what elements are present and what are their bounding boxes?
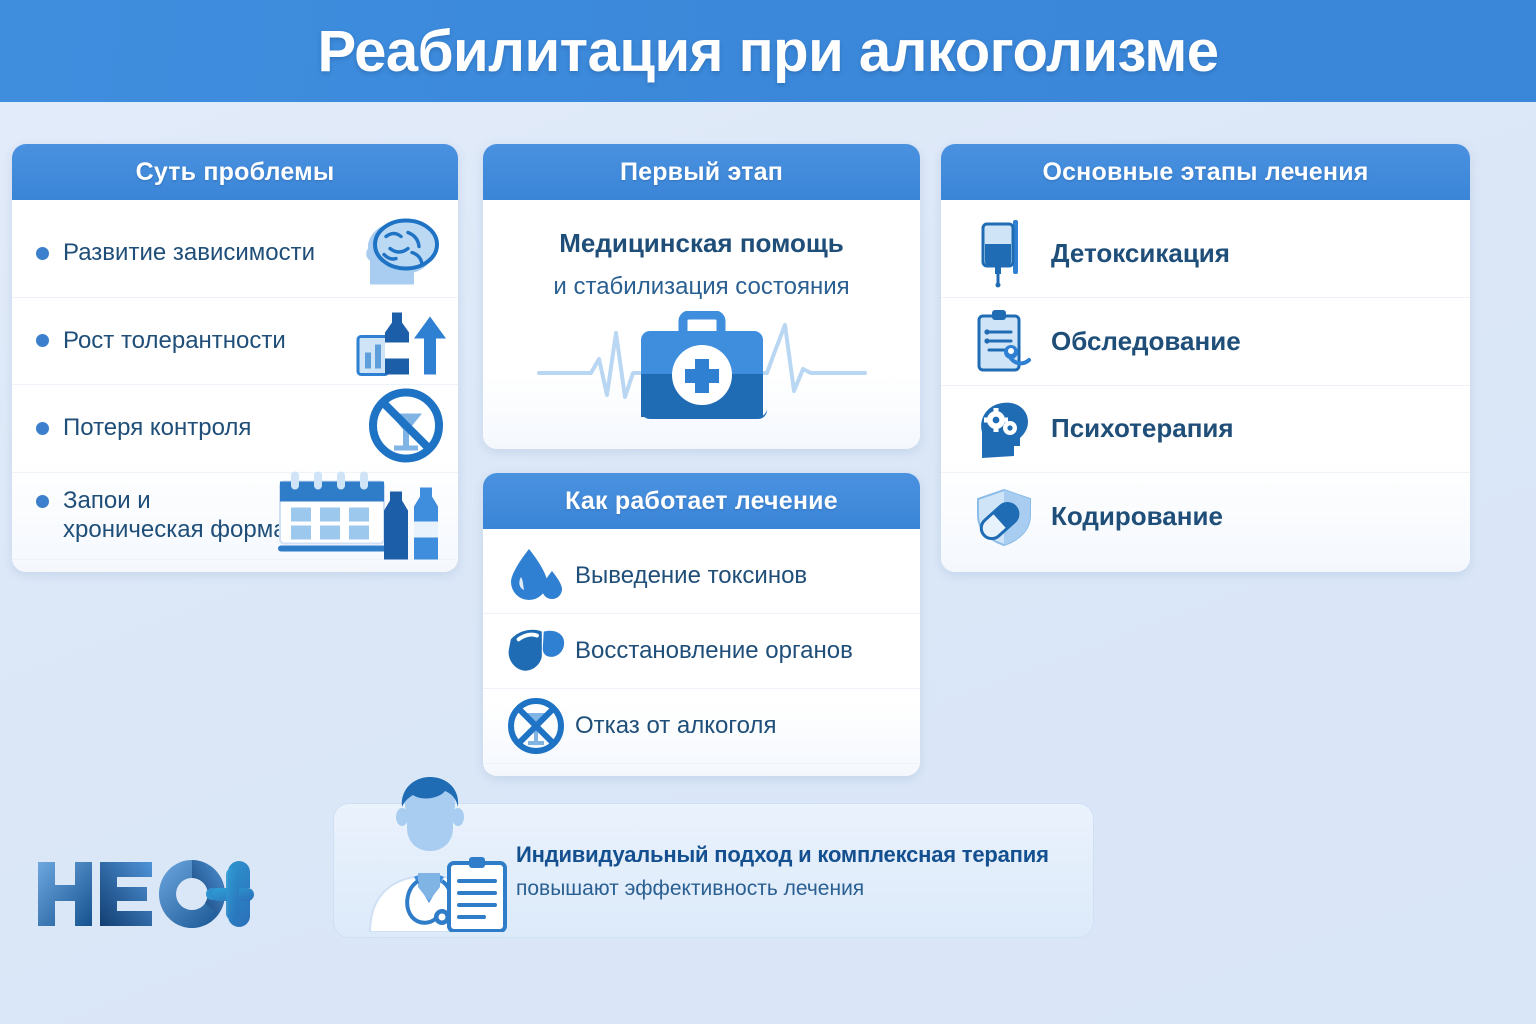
card-first-stage-title: Первый этап xyxy=(620,158,783,187)
bullet-dot xyxy=(36,495,49,508)
clipboard-checkup-icon xyxy=(973,308,1037,374)
footer-line1: Индивидуальный подход и комплексная тера… xyxy=(516,842,1049,868)
list-item[interactable]: Обследование xyxy=(941,298,1470,386)
pill-shield-icon xyxy=(973,486,1037,548)
card-stages-title: Основные этапы лечения xyxy=(1042,158,1368,187)
card-problem-title: Суть проблемы xyxy=(136,158,335,187)
list-item[interactable]: Детоксикация xyxy=(941,210,1470,298)
page-title: Реабилитация при алкоголизме xyxy=(317,18,1218,85)
list-item[interactable]: Психотерапия xyxy=(941,386,1470,474)
card-stages-body: Детоксикация xyxy=(941,200,1470,572)
brain-icon xyxy=(362,215,448,292)
list-item-label: Рост толерантности xyxy=(63,327,286,355)
list-item-label: Отказ от алкоголя xyxy=(575,712,776,740)
bullet-dot xyxy=(36,247,49,260)
first-stage-line2: и стабилизация состояния xyxy=(503,273,900,301)
list-item[interactable]: Восстановление органов xyxy=(483,614,920,689)
card-how-it-works: Как работает лечение Выведение токсинов xyxy=(483,473,920,776)
card-stages: Основные этапы лечения Детоксикация xyxy=(941,144,1470,572)
footer-line2: повышают эффективность лечения xyxy=(516,877,1049,901)
list-item-label: Кодирование xyxy=(1051,501,1223,532)
bottle-growth-icon xyxy=(356,298,448,383)
card-first-stage: Первый этап Медицинская помощь и стабили… xyxy=(483,144,920,449)
card-how-it-works-header: Как работает лечение xyxy=(483,473,920,529)
logo-mark xyxy=(34,856,254,932)
list-item-label: Детоксикация xyxy=(1051,238,1230,269)
no-alcohol-icon xyxy=(507,697,565,755)
card-problem-header: Суть проблемы xyxy=(12,144,458,200)
page-header: Реабилитация при алкоголизме xyxy=(0,0,1536,102)
card-how-it-works-title: Как работает лечение xyxy=(565,487,838,516)
liver-icon xyxy=(507,627,565,675)
card-problem: Суть проблемы Развитие зависимости Рост … xyxy=(12,144,458,572)
list-item-label: Выведение токсинов xyxy=(575,562,807,590)
list-item-label: Обследование xyxy=(1051,326,1241,357)
list-item[interactable]: Отказ от алкоголя xyxy=(483,689,920,764)
list-item[interactable]: Запои и хроническая форма xyxy=(12,473,458,561)
iv-drip-icon xyxy=(973,218,1037,288)
list-item-label: Потеря контроля xyxy=(63,414,251,442)
first-stage-text: Медицинская помощь и стабилизация состоя… xyxy=(483,210,920,301)
doctor-clipboard-icon xyxy=(352,777,512,937)
water-drop-icon xyxy=(507,547,565,605)
list-item[interactable]: Потеря контроля xyxy=(12,385,458,473)
footer-banner: Индивидуальный подход и комплексная тера… xyxy=(333,803,1094,938)
first-stage-line1: Медицинская помощь xyxy=(503,228,900,259)
list-item[interactable]: Рост толерантности xyxy=(12,298,458,386)
medical-kit-ecg-icon xyxy=(483,301,920,437)
card-problem-body: Развитие зависимости Рост толерантности xyxy=(12,200,458,572)
list-item[interactable]: Выведение токсинов xyxy=(483,539,920,614)
calendar-bottles-icon xyxy=(264,465,454,566)
no-alcohol-glass-icon xyxy=(364,384,448,473)
head-gears-icon xyxy=(973,398,1037,460)
card-how-it-works-body: Выведение токсинов Восстановление органо… xyxy=(483,529,920,776)
footer-text: Индивидуальный подход и комплексная тера… xyxy=(516,842,1049,901)
list-item-label: Развитие зависимости xyxy=(63,239,315,267)
card-stages-header: Основные этапы лечения xyxy=(941,144,1470,200)
card-first-stage-body: Медицинская помощь и стабилизация состоя… xyxy=(483,200,920,449)
logo[interactable]: НЕО+ xyxy=(34,856,254,937)
card-first-stage-header: Первый этап xyxy=(483,144,920,200)
bullet-dot xyxy=(36,334,49,347)
list-item[interactable]: Развитие зависимости xyxy=(12,210,458,298)
list-item[interactable]: Кодирование xyxy=(941,473,1470,560)
list-item-label: Запои и хроническая форма xyxy=(63,487,287,544)
bullet-dot xyxy=(36,422,49,435)
list-item-label: Восстановление органов xyxy=(575,637,853,665)
list-item-label: Психотерапия xyxy=(1051,413,1234,444)
